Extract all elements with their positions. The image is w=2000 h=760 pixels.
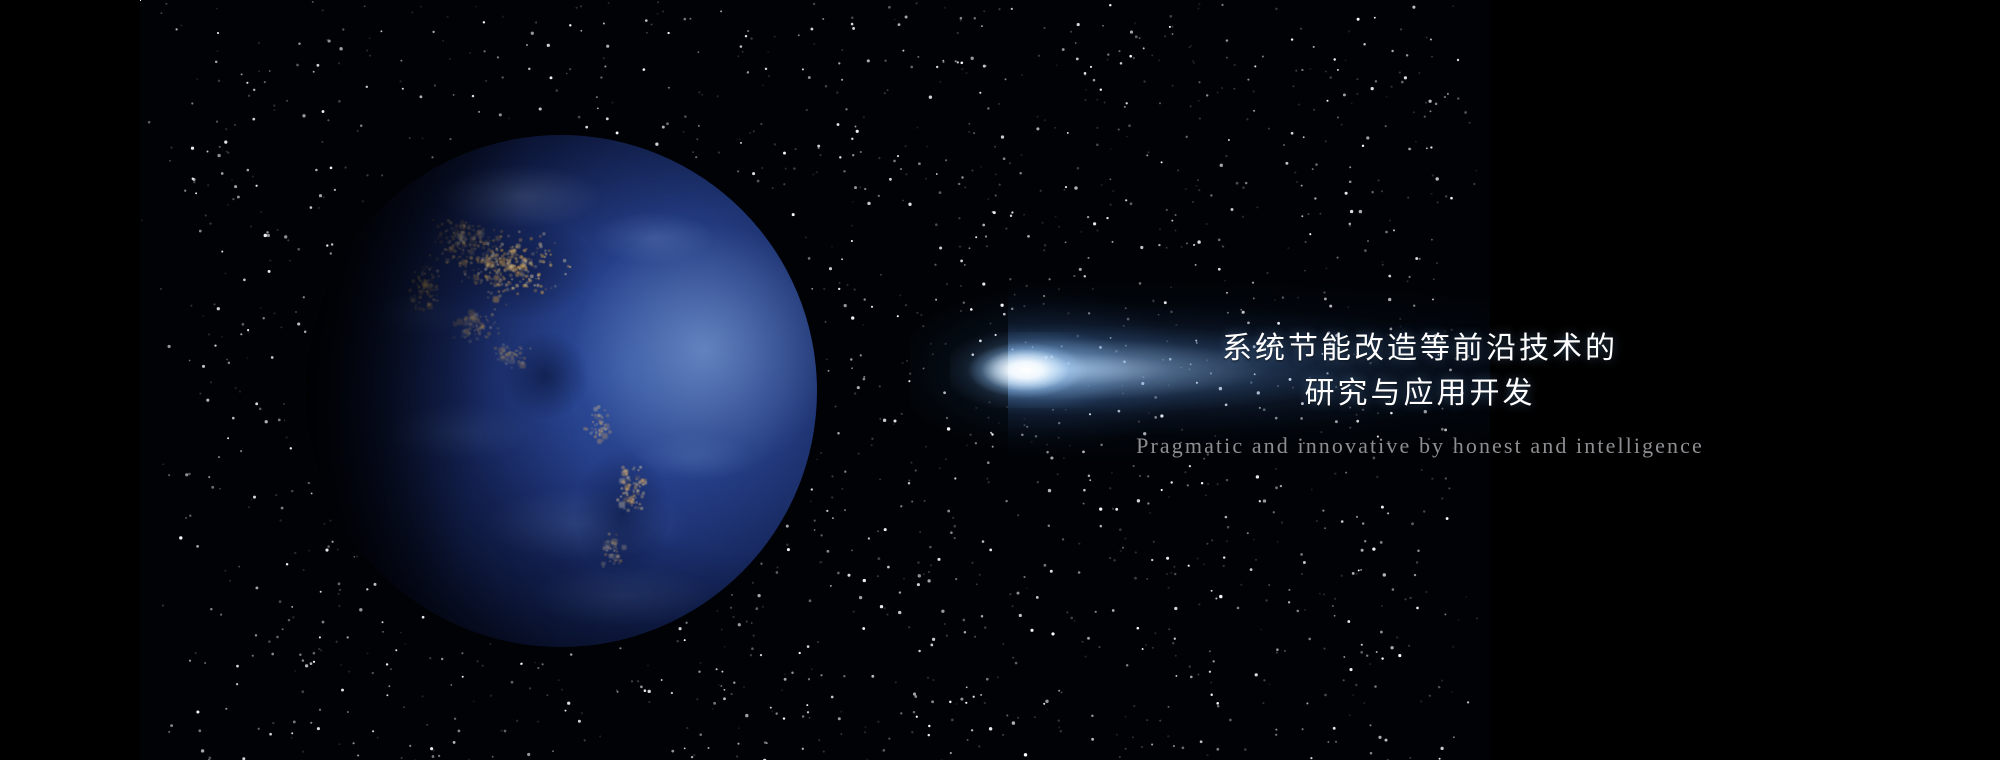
hero-banner: 系统节能改造等前沿技术的 研究与应用开发 Pragmatic and innov… [0, 0, 2000, 760]
earth-limb-highlight [302, 132, 820, 650]
starfield-faint-layer [140, 0, 141, 1]
banner-tagline: Pragmatic and innovative by honest and i… [1040, 433, 1800, 459]
banner-headline: 系统节能改造等前沿技术的 研究与应用开发 [1040, 326, 1800, 416]
headline-line-2: 研究与应用开发 [1040, 371, 1800, 416]
earth-globe [305, 135, 817, 647]
headline-line-1: 系统节能改造等前沿技术的 [1040, 326, 1800, 371]
banner-copy: 系统节能改造等前沿技术的 研究与应用开发 Pragmatic and innov… [1040, 326, 1800, 459]
earth-city-lights [305, 135, 306, 136]
